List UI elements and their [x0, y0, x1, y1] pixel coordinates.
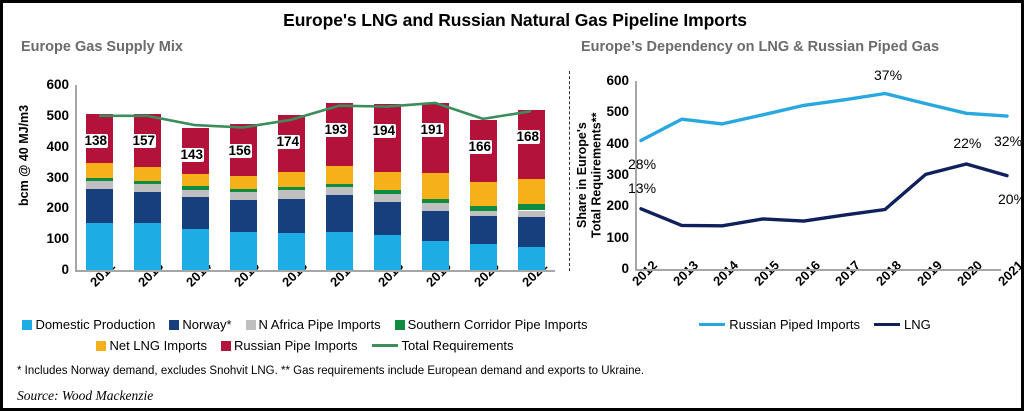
bar-value-label: 191: [420, 123, 445, 137]
legend-line-icon: [699, 323, 725, 326]
left-legend-row-1: Domestic ProductionNorway*N Africa Pipe …: [3, 316, 607, 332]
legend-label: LNG: [904, 317, 931, 332]
legend-item[interactable]: Norway*: [169, 317, 231, 332]
legend-label: Norway*: [182, 317, 231, 332]
data-annotation: 37%: [873, 68, 903, 83]
legend-item[interactable]: Net LNG Imports: [96, 338, 207, 353]
legend-item[interactable]: Domestic Production: [22, 317, 155, 332]
legend-item[interactable]: LNG: [874, 317, 931, 332]
legend-label: Net LNG Imports: [109, 338, 207, 353]
total-requirements-line: [3, 3, 569, 313]
legend-line-icon: [372, 344, 398, 347]
legend-swatch-icon: [221, 341, 231, 351]
bar-value-label: 157: [132, 134, 157, 148]
data-annotation: 28%: [627, 157, 657, 172]
bar-value-label: 194: [372, 124, 397, 138]
footnote: * Includes Norway demand, excludes Snohv…: [17, 365, 644, 377]
bar-value-label: 168: [516, 130, 541, 144]
legend-swatch-icon: [96, 341, 106, 351]
bar-value-label: 143: [180, 148, 205, 162]
legend-item[interactable]: Russian Pipe Imports: [221, 338, 358, 353]
legend-swatch-icon: [169, 320, 179, 330]
legend-item[interactable]: Russian Piped Imports: [699, 317, 860, 332]
source-label: Source: Wood Mackenzie: [17, 388, 153, 404]
right-chart-panel: Share in Europe's Total Requirements** 0…: [569, 3, 1024, 313]
data-annotation: 13%: [627, 181, 657, 196]
bar-value-label: 174: [276, 135, 301, 149]
legend-item[interactable]: Total Requirements: [372, 338, 514, 353]
bar-value-label: 193: [324, 123, 349, 137]
legend-label: Southern Corridor Pipe Imports: [408, 317, 588, 332]
bar-value-label: 138: [84, 134, 109, 148]
data-annotation: 32%: [993, 134, 1023, 149]
legend-item[interactable]: Southern Corridor Pipe Imports: [395, 317, 588, 332]
legend-swatch-icon: [395, 320, 405, 330]
right-legend: Russian Piped ImportsLNG: [603, 316, 1024, 332]
chart-figure: Europe's LNG and Russian Natural Gas Pip…: [0, 0, 1024, 411]
legend-item[interactable]: N Africa Pipe Imports: [246, 317, 381, 332]
legend-label: N Africa Pipe Imports: [259, 317, 381, 332]
legend-line-icon: [874, 323, 900, 326]
legend-swatch-icon: [22, 320, 32, 330]
left-chart-panel: bcm @ 40 MJ/m3 0100200300400500600 20122…: [3, 3, 569, 313]
legend-swatch-icon: [246, 320, 256, 330]
legend-label: Total Requirements: [402, 338, 514, 353]
data-annotation: 22%: [952, 136, 982, 151]
left-legend-row-2: Net LNG ImportsRussian Pipe ImportsTotal…: [3, 337, 607, 353]
legend-label: Russian Piped Imports: [729, 317, 860, 332]
bar-value-label: 156: [228, 144, 253, 158]
legend-label: Domestic Production: [35, 317, 155, 332]
legend-label: Russian Pipe Imports: [234, 338, 358, 353]
bar-value-label: 166: [468, 140, 493, 154]
data-annotation: 20%: [997, 192, 1024, 207]
